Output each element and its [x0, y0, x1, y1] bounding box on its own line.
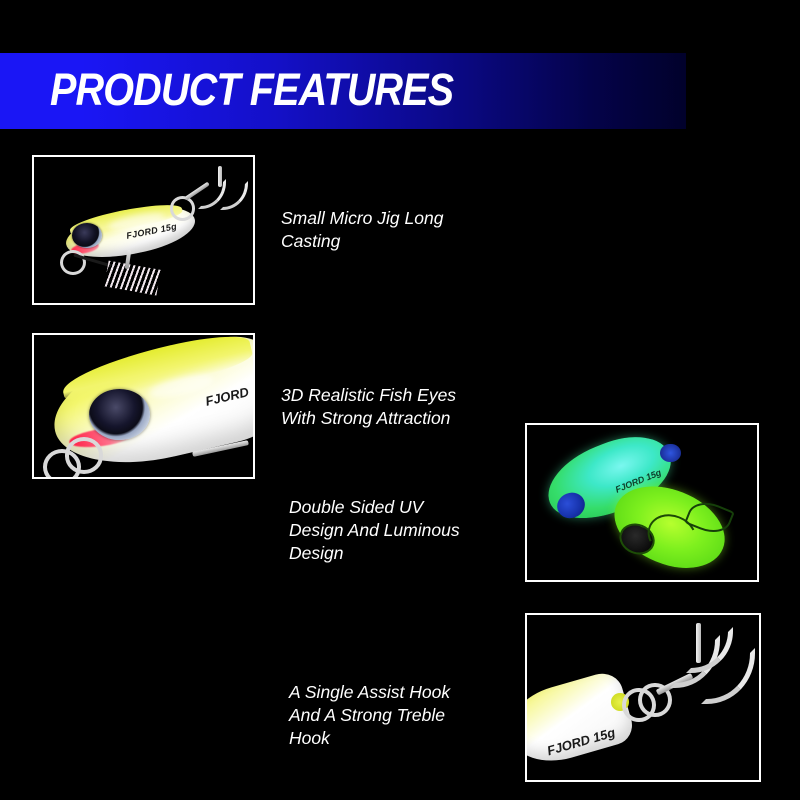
feature-text-2: 3D Realistic Fish Eyes With Strong Attra… [281, 384, 501, 430]
lure-eye [72, 223, 102, 248]
treble-hook [196, 166, 244, 204]
photo-jig-full: FJORD 15g [32, 155, 255, 305]
lure-3d-eye [89, 389, 150, 440]
lure-tail-body [525, 669, 637, 772]
photo-jig-eye: FJORD [32, 333, 255, 479]
photo-uv-glow: FJORD 15g [525, 423, 759, 582]
feature-text-4: A Single Assist Hook And A Strong Treble… [289, 681, 509, 750]
photo-jig-eye-image: FJORD [34, 335, 253, 477]
photo-treble-hook: FJORD 15g [525, 613, 761, 782]
photo-jig-full-image: FJORD 15g [34, 157, 253, 303]
page-title: PRODUCT FEATURES [50, 61, 453, 119]
treble-barb-right [220, 181, 248, 211]
assist-hook-tassel [104, 261, 160, 296]
uv-lure-cyan-tip [660, 444, 681, 463]
treble-hook-large [666, 623, 750, 706]
photo-uv-glow-image: FJORD 15g [527, 425, 757, 580]
photo-treble-hook-image: FJORD 15g [527, 615, 759, 780]
feature-text-1: Small Micro Jig Long Casting [281, 207, 501, 253]
feature-text-3: Double Sided UV Design And Luminous Desi… [289, 496, 509, 565]
